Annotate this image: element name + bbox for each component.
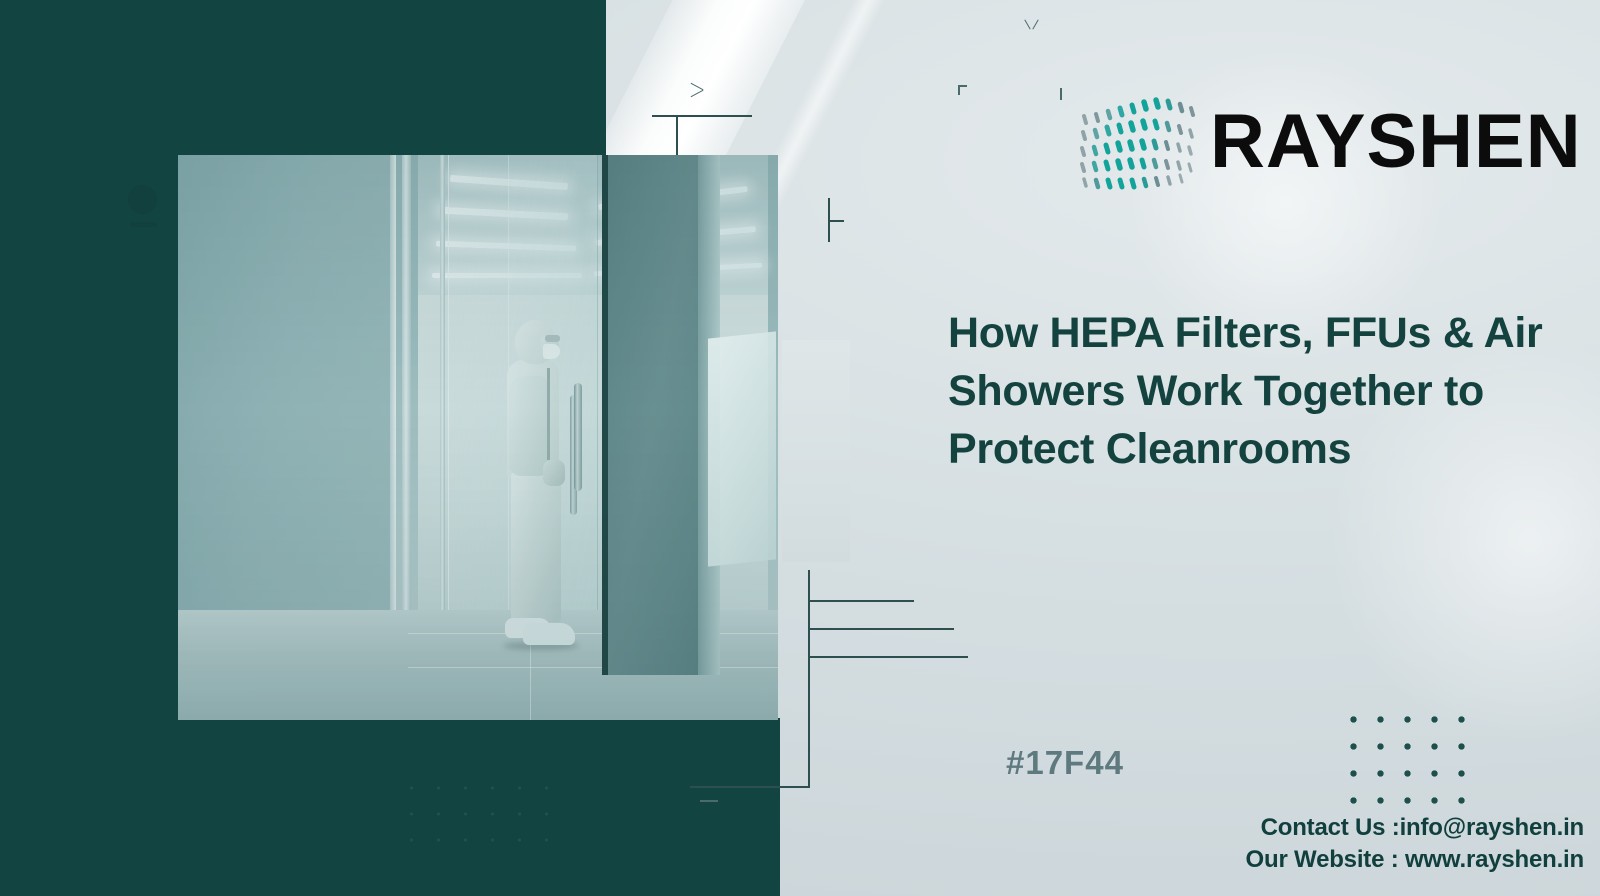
brand-logo[interactable]: RAYSHEN [1070,92,1570,222]
page-title: How HEPA Filters, FFUs & Air Showers Wor… [948,304,1548,478]
bracket-branch-2 [808,628,954,630]
tech-mark-top-horizontal [652,115,752,117]
brand-accent-dash [130,222,157,227]
reference-code: #17F44 [1006,744,1124,782]
brand-accent-dot [128,185,157,214]
overlay-panel-glass [708,331,776,566]
poster-canvas: RAYSHEN How HEPA Filters, FFUs & Air Sho… [0,0,1600,896]
cleanroom-photo [178,155,778,720]
contact-email-line[interactable]: Contact Us :info@rayshen.in [1246,812,1584,844]
bracket-vertical [808,570,810,788]
green-panel-dot-texture [398,775,558,845]
overlay-panel-solid [782,340,850,562]
tech-mark-tick-b [958,85,967,87]
bracket-branch-3 [808,656,968,658]
bracket-foot-horizontal [690,786,810,788]
bracket-branch-1 [808,600,914,602]
contact-block: Contact Us :info@rayshen.in Our Website … [1246,812,1584,875]
tech-mark-right-horizontal [828,220,844,222]
bottom-green-panel [0,718,780,896]
decorative-dot-grid [1340,706,1466,806]
tech-mark-tick-c [1060,88,1062,100]
photo-scene [178,155,778,720]
photo-haze [178,155,778,720]
bracket-foot-tick [700,800,718,802]
brand-name: RAYSHEN [1210,104,1582,180]
contact-website-line[interactable]: Our Website : www.rayshen.in [1246,844,1584,876]
wave-dot-mesh-icon [1070,92,1205,202]
